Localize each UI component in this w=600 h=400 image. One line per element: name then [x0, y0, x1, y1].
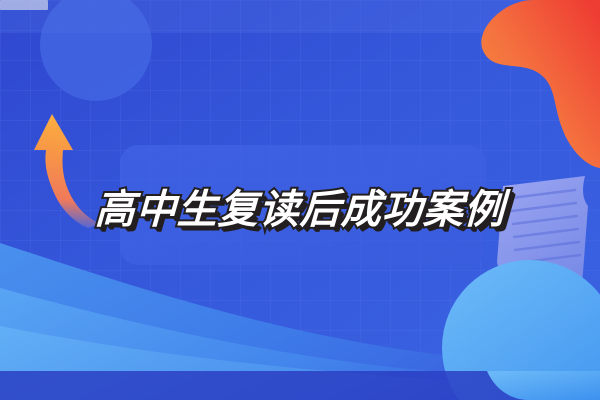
title-panel — [120, 145, 486, 265]
promo-banner: 高中生复读后成功案例 — [0, 0, 600, 400]
banner-artwork — [0, 0, 600, 400]
top-left-chip — [0, 0, 48, 10]
